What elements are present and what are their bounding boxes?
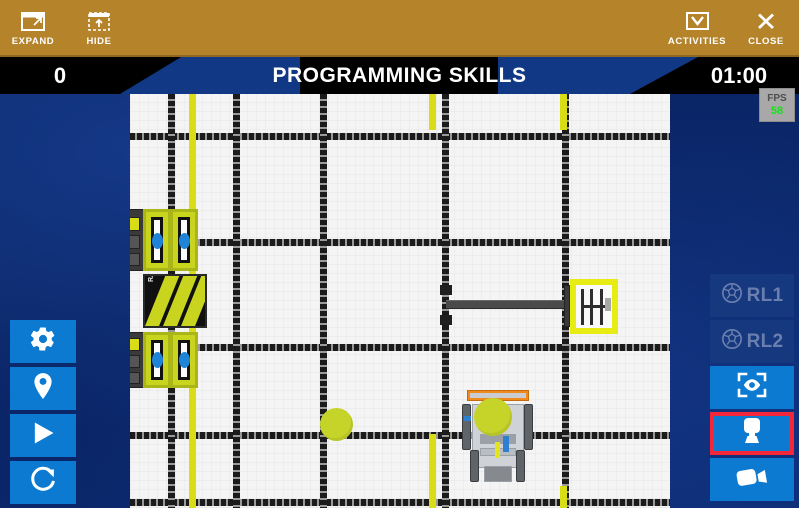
field-yellow-line: [560, 94, 567, 130]
expand-button[interactable]: EXPAND: [0, 0, 66, 57]
field-seam-h: [130, 432, 670, 439]
close-x-icon: [756, 10, 776, 32]
simulator-window: EXPAND HIDE: [0, 0, 799, 508]
loader-top: [130, 209, 202, 271]
map-pin-icon: [30, 372, 56, 405]
settings-button[interactable]: [10, 320, 76, 363]
robot-view-button[interactable]: [710, 412, 794, 455]
rl2-label: RL2: [747, 331, 784, 353]
field-yellow-line: [429, 434, 436, 508]
close-button[interactable]: CLOSE: [733, 0, 799, 57]
location-button[interactable]: [10, 367, 76, 410]
zebra-rack: RACK: [143, 274, 207, 328]
hide-button-label: HIDE: [86, 36, 111, 47]
field-yellow-line: [429, 94, 436, 130]
activities-button[interactable]: ACTIVITIES: [661, 0, 733, 57]
field-seam-h: [130, 344, 670, 351]
gear-icon: [29, 325, 57, 358]
camera-button[interactable]: [710, 458, 794, 501]
ball-icon: [721, 328, 743, 355]
ball-icon: [721, 282, 743, 309]
right-control-column: RL1 RL2: [710, 274, 794, 501]
play-button[interactable]: [10, 414, 76, 457]
toolbar-left-group: EXPAND HIDE: [0, 0, 132, 57]
field-seam-h: [130, 133, 670, 140]
score-banner: 0 PROGRAMMING SKILLS 01:00: [0, 57, 799, 94]
top-toolbar: EXPAND HIDE: [0, 0, 799, 57]
rl1-button[interactable]: RL1: [710, 274, 794, 317]
right-goal: [440, 279, 670, 339]
field-seam-h: [130, 239, 670, 246]
chevron-down-box-icon: [686, 10, 709, 32]
video-camera-icon: [735, 464, 769, 495]
expand-window-icon: [21, 10, 45, 32]
rack-label: RACK: [148, 274, 155, 282]
field-seam-v: [233, 94, 240, 508]
loader-bottom: [130, 332, 202, 388]
field-viewport[interactable]: RACK: [130, 94, 670, 508]
reset-button[interactable]: [10, 461, 76, 504]
activities-button-label: ACTIVITIES: [668, 36, 726, 47]
fps-label: FPS: [767, 93, 786, 105]
match-timer: 01:00: [679, 57, 799, 94]
field-surface: RACK: [130, 94, 670, 508]
close-button-label: CLOSE: [748, 36, 784, 47]
view-button[interactable]: [710, 366, 794, 409]
refresh-icon: [29, 466, 57, 499]
left-control-column: [10, 320, 76, 504]
competition-robot[interactable]: [458, 390, 536, 485]
hide-button[interactable]: HIDE: [66, 0, 132, 57]
rl1-label: RL1: [747, 285, 784, 307]
toolbar-right-group: ACTIVITIES CLOSE: [661, 0, 799, 57]
play-icon: [29, 419, 57, 452]
field-yellow-line: [560, 486, 567, 508]
expand-button-label: EXPAND: [12, 36, 55, 47]
eye-focus-icon: [735, 371, 769, 404]
held-game-ball: [474, 398, 512, 436]
robot-monitor-icon: [736, 416, 768, 451]
rl2-button[interactable]: RL2: [710, 320, 794, 363]
game-ball: [320, 408, 353, 441]
fps-value: 58: [771, 105, 783, 117]
hide-upload-icon: [88, 10, 110, 32]
field-seam-v: [320, 94, 327, 508]
field-seam-h: [130, 499, 670, 506]
